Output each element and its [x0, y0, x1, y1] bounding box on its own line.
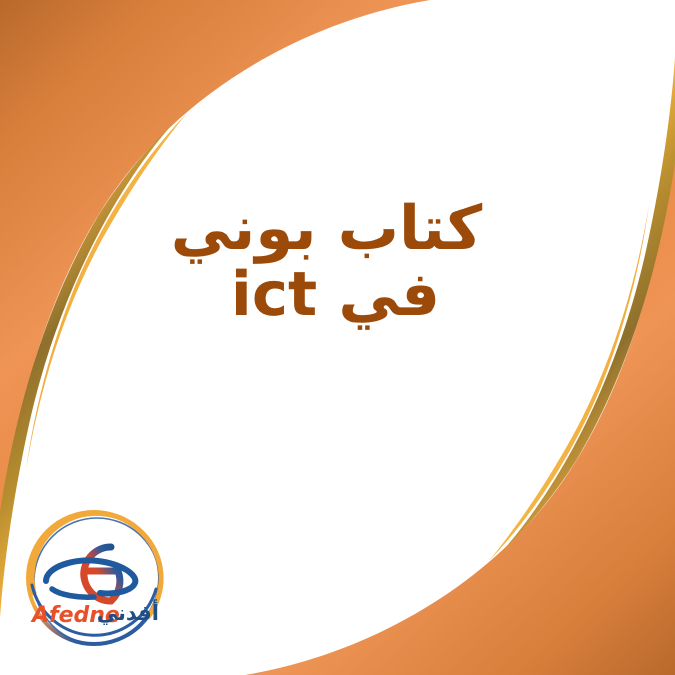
logo-wordmark: Afedne أفدني: [22, 601, 167, 631]
afedne-brand-logo[interactable]: Afedne أفدني: [22, 505, 167, 653]
logo-arabic-text: أفدني: [97, 601, 159, 625]
title-line-2: في ict: [0, 262, 671, 328]
title-line-1: كتاب بوني: [0, 196, 653, 262]
poster-canvas: كتاب بوني في ict Afedne أفدني: [0, 0, 675, 675]
poster-title: كتاب بوني في ict: [0, 196, 675, 328]
